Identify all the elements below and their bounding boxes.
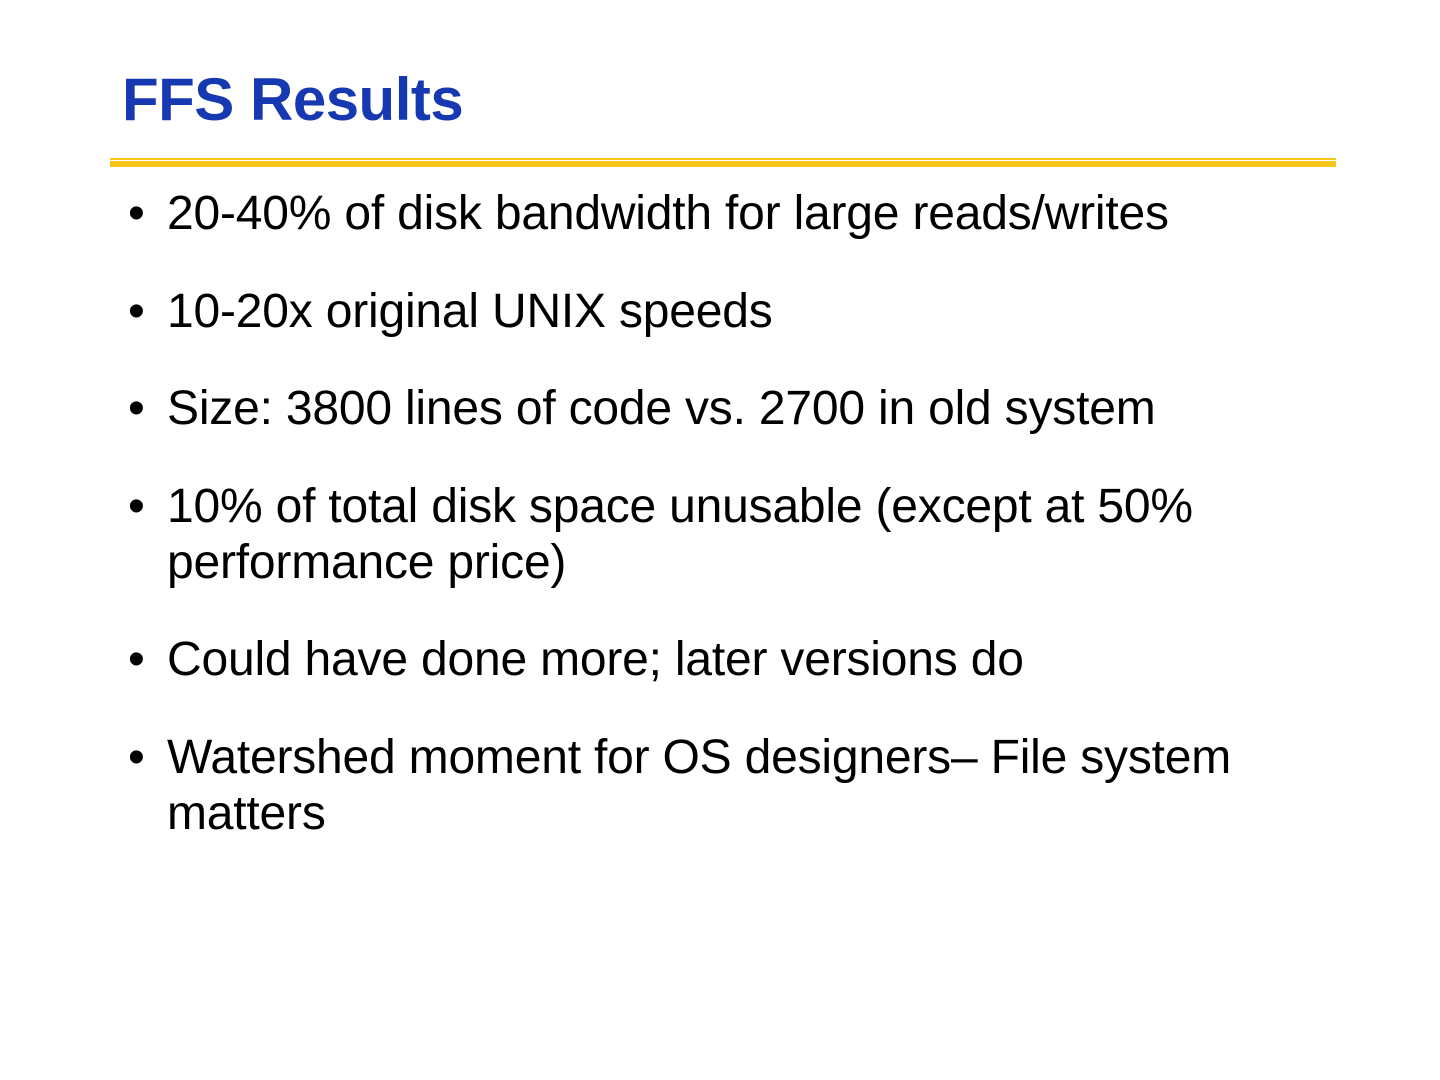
list-item: • 20-40% of disk bandwidth for large rea… — [110, 186, 1290, 242]
bullet-dot-icon: • — [128, 632, 150, 688]
bullet-dot-icon: • — [128, 479, 150, 535]
list-item-text: Size: 3800 lines of code vs. 2700 in old… — [167, 381, 1290, 437]
list-item-text: Watershed moment for OS designers– File … — [167, 730, 1290, 841]
bullet-dot-icon: • — [128, 284, 150, 340]
page-title: FFS Results — [110, 68, 1340, 131]
list-item: • Could have done more; later versions d… — [110, 632, 1290, 688]
divider-thick-line — [110, 161, 1336, 167]
list-item-text: 20-40% of disk bandwidth for large reads… — [167, 186, 1290, 242]
list-item: • 10% of total disk space unusable (exce… — [110, 479, 1290, 590]
slide-canvas: FFS Results • 20-40% of disk bandwidth f… — [0, 0, 1440, 1080]
bullet-dot-icon: • — [128, 186, 150, 242]
bullet-list: • 20-40% of disk bandwidth for large rea… — [110, 186, 1290, 841]
list-item-text: 10% of total disk space unusable (except… — [167, 479, 1290, 590]
bullet-dot-icon: • — [128, 381, 150, 437]
title-block: FFS Results — [110, 68, 1340, 131]
title-divider-rule — [110, 158, 1336, 167]
bullet-dot-icon: • — [128, 730, 150, 786]
list-item-text: 10-20x original UNIX speeds — [167, 284, 1290, 340]
list-item-text: Could have done more; later versions do — [167, 632, 1290, 688]
list-item: • 10-20x original UNIX speeds — [110, 284, 1290, 340]
list-item: • Size: 3800 lines of code vs. 2700 in o… — [110, 381, 1290, 437]
list-item: • Watershed moment for OS designers– Fil… — [110, 730, 1290, 841]
